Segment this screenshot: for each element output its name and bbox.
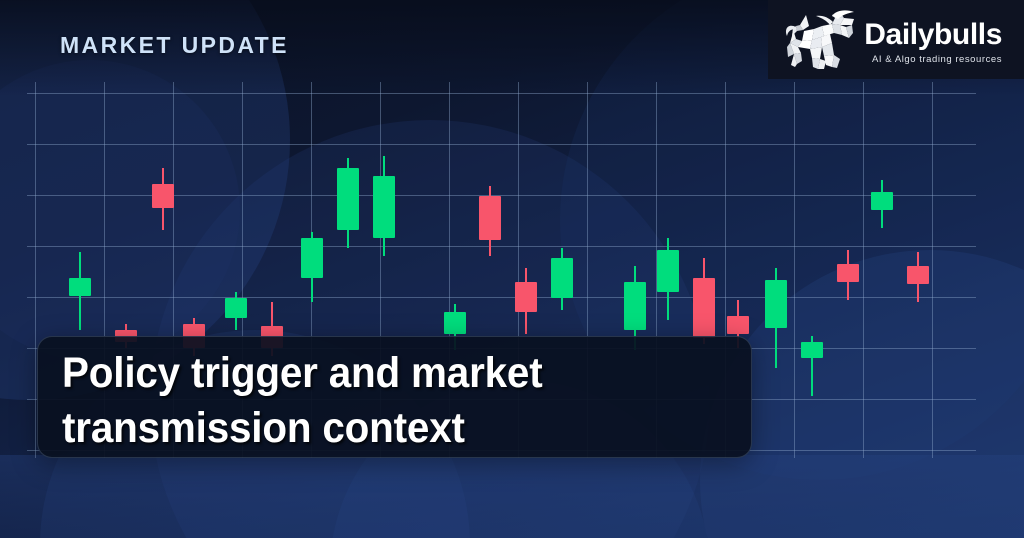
candlestick (657, 238, 679, 320)
candlestick (765, 268, 787, 368)
candlestick-body (657, 250, 679, 292)
candlestick-body (337, 168, 359, 230)
candlestick-body (693, 278, 715, 338)
candlestick-body (301, 238, 323, 278)
candlestick-body (444, 312, 466, 334)
candlestick-body (479, 196, 501, 240)
candlestick-body (225, 298, 247, 318)
candlestick (907, 252, 929, 302)
candlestick (373, 156, 395, 256)
candlestick-body (801, 342, 823, 358)
headline-line-2: transmission context (62, 401, 711, 456)
candlestick-body (152, 184, 174, 208)
candlestick (479, 186, 501, 256)
brand-name: Dailybulls (864, 20, 1002, 50)
candlestick-body (871, 192, 893, 210)
candlestick-body (727, 316, 749, 334)
logo-wordmark: Dailybulls AI & Algo trading resources (864, 20, 1002, 65)
eyebrow-label: MARKET UPDATE (60, 32, 289, 59)
candlestick (337, 158, 359, 248)
candlestick (871, 180, 893, 228)
candlestick (837, 250, 859, 300)
candlestick (69, 252, 91, 330)
candlestick (225, 292, 247, 330)
candlestick-body (765, 280, 787, 328)
candlestick-body (551, 258, 573, 298)
headline-line-1: Policy trigger and market (62, 346, 711, 401)
candlestick-body (624, 282, 646, 330)
headline: Policy trigger and market transmission c… (62, 346, 711, 456)
dailybulls-logo[interactable]: Dailybulls AI & Algo trading resources (774, 9, 1002, 76)
candlestick-body (373, 176, 395, 238)
candlestick (515, 268, 537, 334)
market-update-banner: MARKET UPDATE (0, 0, 1024, 538)
candlestick-body (837, 264, 859, 282)
candlestick-body (515, 282, 537, 312)
bull-icon (774, 9, 858, 76)
brand-tagline: AI & Algo trading resources (872, 55, 1002, 65)
candlestick (152, 168, 174, 230)
candlestick (801, 336, 823, 396)
candlestick (301, 232, 323, 302)
candlestick-body (907, 266, 929, 284)
candlestick-body (69, 278, 91, 296)
candlestick (693, 258, 715, 344)
candlestick (551, 248, 573, 310)
